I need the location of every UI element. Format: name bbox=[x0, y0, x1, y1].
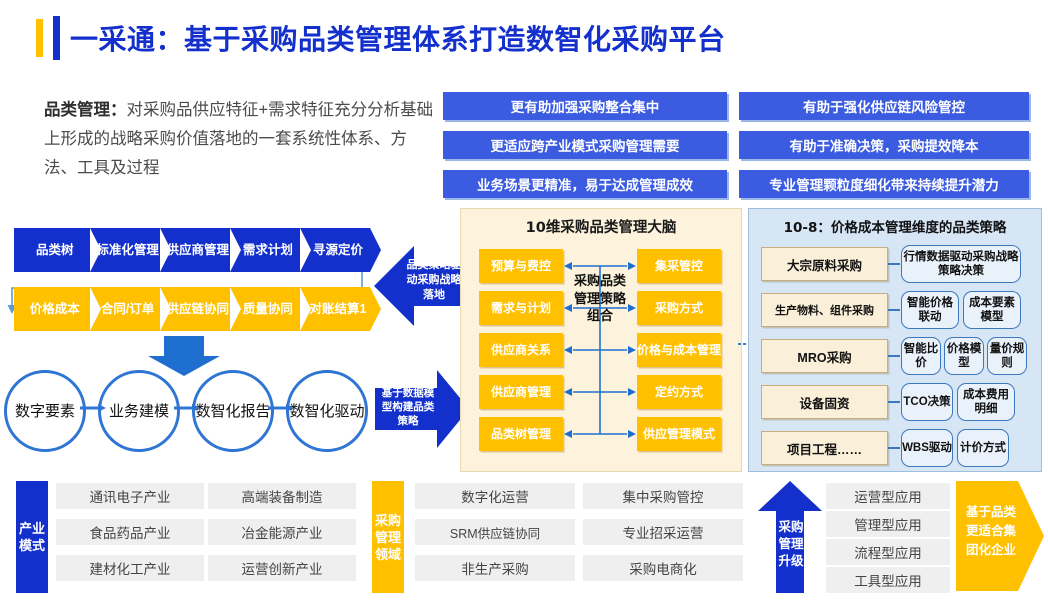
benefit-right-2[interactable]: 专业管理颗粒度细化带来持续提升潜力 bbox=[739, 170, 1029, 198]
brain-left-4[interactable]: 品类树管理 bbox=[479, 417, 563, 451]
brain-left-1[interactable]: 需求与计划 bbox=[479, 291, 563, 325]
app-cell-2[interactable]: 流程型应用 bbox=[826, 539, 950, 565]
flow-orange-row: 价格成本 合同/订单 供应链协同 质量协同 对账结算1 bbox=[14, 287, 370, 331]
flow-orange-step-1-label: 合同/订单 bbox=[95, 302, 154, 316]
brain-right-4[interactable]: 供应管理模式 bbox=[637, 417, 721, 451]
industry-cell-2-0[interactable]: 建材化工产业 bbox=[56, 555, 204, 581]
circle-step-1[interactable]: 业务建模 bbox=[98, 370, 180, 452]
app-cell-1[interactable]: 管理型应用 bbox=[826, 511, 950, 537]
flow-blue-step-3[interactable]: 需求计划 bbox=[230, 228, 300, 272]
benefit-right-0[interactable]: 有助于强化供应链风险管控 bbox=[739, 92, 1029, 120]
data-arrow: 基于数据模型构建品类策略 bbox=[375, 366, 469, 452]
benefit-right-1[interactable]: 有助于准确决策，采购提效降本 bbox=[739, 131, 1029, 159]
price-tag-2-1[interactable]: 价格模型 bbox=[944, 337, 984, 375]
price-tag-3-1[interactable]: 成本费用明细 bbox=[957, 383, 1015, 421]
industry-cell-0-0[interactable]: 通讯电子产业 bbox=[56, 483, 204, 509]
domain-cell-2-0[interactable]: 非生产采购 bbox=[415, 555, 575, 581]
app-cell-3[interactable]: 工具型应用 bbox=[826, 567, 950, 593]
circle-connector-arrow-1 bbox=[174, 404, 200, 412]
brain-center-label: 采购品类管理策略组合 bbox=[571, 273, 629, 326]
flow-orange-step-1[interactable]: 合同/订单 bbox=[90, 287, 160, 331]
page-title-bar: 一采通：基于采购品类管理体系打造数智化采购平台 bbox=[36, 16, 726, 60]
category-fit-arrow-label: 基于品类更适合集团化企业 bbox=[960, 503, 1022, 560]
flow-blue-step-3-label: 需求计划 bbox=[237, 243, 293, 257]
price-tag-2-2[interactable]: 量价规则 bbox=[987, 337, 1027, 375]
flow-orange-step-0[interactable]: 价格成本 bbox=[14, 287, 90, 331]
down-arrow-icon bbox=[140, 336, 228, 376]
domain-cell-1-1[interactable]: 专业招采运营 bbox=[583, 519, 743, 545]
circle-step-2[interactable]: 数智化报告 bbox=[192, 370, 274, 452]
circle-connector-arrow-0 bbox=[80, 404, 106, 412]
flow-blue-step-0[interactable]: 品类树 bbox=[14, 228, 90, 272]
domain-cell-2-1[interactable]: 采购电商化 bbox=[583, 555, 743, 581]
flow-blue-step-1-label: 标准化管理 bbox=[90, 243, 159, 257]
flow-orange-step-2[interactable]: 供应链协同 bbox=[160, 287, 230, 331]
intro-lead: 品类管理： bbox=[44, 101, 127, 119]
flow-orange-step-2-label: 供应链协同 bbox=[160, 302, 229, 316]
flow-orange-step-3[interactable]: 质量协同 bbox=[230, 287, 300, 331]
price-dash-4 bbox=[888, 447, 900, 449]
industry-cell-0-1[interactable]: 高端装备制造 bbox=[208, 483, 356, 509]
price-tag-3-0[interactable]: TCO决策 bbox=[901, 383, 953, 421]
price-category-3[interactable]: 设备固资 bbox=[761, 385, 888, 419]
brain-left-2[interactable]: 供应商关系 bbox=[479, 333, 563, 367]
upgrade-arrow-label: 采购管理升级 bbox=[774, 519, 808, 570]
price-category-1[interactable]: 生产物料、组件采购 bbox=[761, 293, 888, 327]
brain-left-0[interactable]: 预算与费控 bbox=[479, 249, 563, 283]
price-dash-0 bbox=[888, 263, 900, 265]
category-fit-arrow: 基于品类更适合集团化企业 bbox=[956, 481, 1044, 591]
flow-blue-step-1[interactable]: 标准化管理 bbox=[90, 228, 160, 272]
price-category-0[interactable]: 大宗原料采购 bbox=[761, 247, 888, 281]
industry-cell-2-1[interactable]: 运营创新产业 bbox=[208, 555, 356, 581]
circle-step-3[interactable]: 数智化驱动 bbox=[286, 370, 368, 452]
benefit-left-0[interactable]: 更有助加强采购整合集中 bbox=[443, 92, 727, 120]
brain-right-0[interactable]: 集采管控 bbox=[637, 249, 721, 283]
page-title: 一采通：基于采购品类管理体系打造数智化采购平台 bbox=[70, 18, 726, 58]
title-accent-yellow-bar bbox=[36, 19, 43, 57]
band-procurement-domain: 采购管理领域 bbox=[372, 481, 404, 593]
flow-blue-row: 品类树 标准化管理 供应商管理 需求计划 寻源定价 bbox=[14, 228, 370, 272]
flow-blue-step-2-label: 供应商管理 bbox=[160, 243, 229, 257]
price-tag-4-0[interactable]: WBS驱动 bbox=[901, 429, 953, 467]
flow-blue-step-4-label: 寻源定价 bbox=[307, 243, 363, 257]
title-accent-blue-bar bbox=[53, 16, 60, 60]
brain-right-2[interactable]: 价格与成本管理 bbox=[637, 333, 721, 367]
price-tag-0-0[interactable]: 行情数据驱动采购战略策略决策 bbox=[901, 245, 1021, 283]
industry-cell-1-0[interactable]: 食品药品产业 bbox=[56, 519, 204, 545]
benefit-left-1[interactable]: 更适应跨产业模式采购管理需要 bbox=[443, 131, 727, 159]
price-strategy-panel: 10-8：价格成本管理维度的品类策略 大宗原料采购 行情数据驱动采购战略策略决策… bbox=[748, 208, 1042, 472]
band-industry-mode: 产业模式 bbox=[16, 481, 48, 593]
price-panel-title: 10-8：价格成本管理维度的品类策略 bbox=[749, 216, 1041, 236]
flow-orange-step-0-label: 价格成本 bbox=[24, 302, 80, 316]
circle-step-0[interactable]: 数字要素 bbox=[4, 370, 86, 452]
price-category-2[interactable]: MRO采购 bbox=[761, 339, 888, 373]
price-tag-2-0[interactable]: 智能比价 bbox=[901, 337, 941, 375]
benefit-left-2[interactable]: 业务场景更精准，易于达成管理成效 bbox=[443, 170, 727, 198]
upgrade-arrow: 采购管理升级 bbox=[758, 481, 822, 593]
flow-orange-step-3-label: 质量协同 bbox=[237, 302, 293, 316]
flow-orange-step-4[interactable]: 对账结算1 bbox=[300, 287, 370, 331]
app-cell-0[interactable]: 运营型应用 bbox=[826, 483, 950, 509]
industry-cell-1-1[interactable]: 冶金能源产业 bbox=[208, 519, 356, 545]
brain-panel: 10维采购品类管理大脑 采购品类管理策略组合 预算与费控 需求与计划 供应商关系… bbox=[460, 208, 742, 472]
strategy-arrow: 品类策略驱动采购战略落地 bbox=[374, 238, 466, 334]
price-dash-1 bbox=[888, 309, 900, 311]
price-dash-2 bbox=[888, 355, 900, 357]
domain-cell-1-0[interactable]: SRM供应链协同 bbox=[415, 519, 575, 545]
brain-left-3[interactable]: 供应商管理 bbox=[479, 375, 563, 409]
circle-connector-arrow-2 bbox=[268, 404, 294, 412]
data-arrow-label: 基于数据模型构建品类策略 bbox=[379, 386, 437, 428]
domain-cell-0-0[interactable]: 数字化运营 bbox=[415, 483, 575, 509]
price-tag-1-0[interactable]: 智能价格联动 bbox=[901, 291, 959, 329]
flow-blue-step-4[interactable]: 寻源定价 bbox=[300, 228, 370, 272]
price-tag-1-1[interactable]: 成本要素模型 bbox=[963, 291, 1021, 329]
flow-orange-step-4-label: 对账结算1 bbox=[303, 302, 366, 316]
flow-blue-step-0-label: 品类树 bbox=[30, 243, 74, 257]
intro-paragraph: 品类管理：对采购品供应特征+需求特征充分分析基础上形成的战略采购价值落地的一套系… bbox=[44, 96, 434, 183]
brain-right-1[interactable]: 采购方式 bbox=[637, 291, 721, 325]
price-dash-3 bbox=[888, 401, 900, 403]
brain-right-3[interactable]: 定约方式 bbox=[637, 375, 721, 409]
flow-blue-step-2[interactable]: 供应商管理 bbox=[160, 228, 230, 272]
strategy-arrow-label: 品类策略驱动采购战略落地 bbox=[406, 258, 462, 303]
domain-cell-0-1[interactable]: 集中采购管控 bbox=[583, 483, 743, 509]
price-category-4[interactable]: 项目工程…… bbox=[761, 431, 888, 465]
price-tag-4-1[interactable]: 计价方式 bbox=[957, 429, 1009, 467]
